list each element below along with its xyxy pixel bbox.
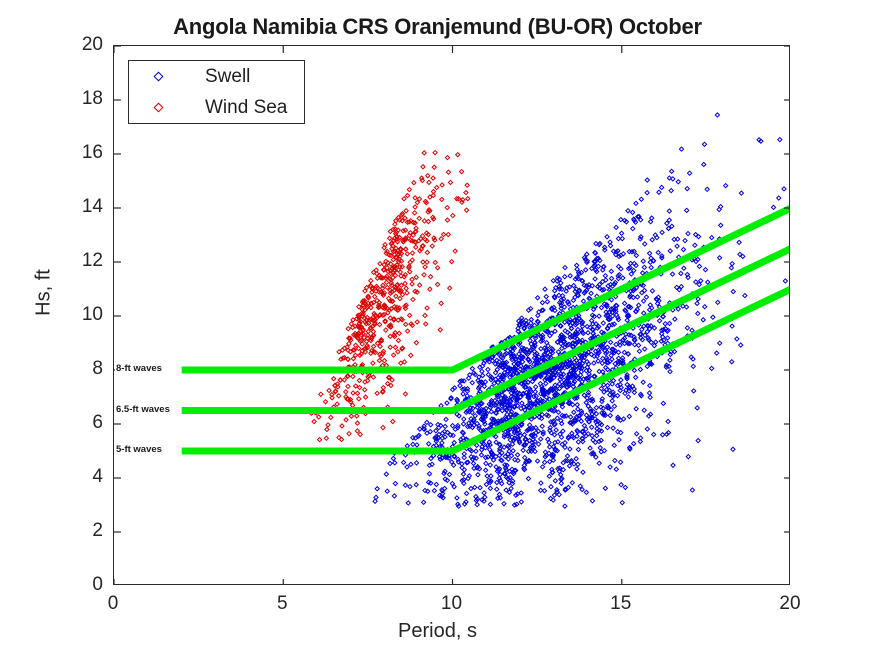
x-tick-label: 20: [760, 593, 820, 615]
y-tick-label: 6: [43, 412, 103, 434]
wind-sea-points: [309, 151, 470, 442]
x-tick-label: 0: [83, 593, 143, 615]
y-tick-label: 16: [43, 142, 103, 164]
y-tick-label: 2: [43, 520, 103, 542]
legend-label-wind-sea: Wind Sea: [205, 97, 287, 119]
y-axis-label: Hs, ft: [33, 233, 56, 353]
x-axis-label: Period, s: [0, 620, 875, 643]
axis-ticks: [114, 46, 790, 585]
figure-canvas: Angola Namibia CRS Oranjemund (BU-OR) Oc…: [0, 0, 875, 656]
scatter-plot-svg: [114, 46, 790, 585]
guide-line-label: 8-ft waves: [115, 363, 163, 374]
swell-marker-icon: [154, 72, 164, 82]
chart-title: Angola Namibia CRS Oranjemund (BU-OR) Oc…: [0, 14, 875, 40]
x-tick-label: 10: [422, 593, 482, 615]
y-tick-label: 18: [43, 88, 103, 110]
y-tick-label: 20: [43, 34, 103, 56]
guide-line-label: 6.5-ft waves: [115, 404, 171, 415]
legend-entry-swell: Swell: [129, 61, 304, 92]
y-tick-label: 4: [43, 466, 103, 488]
plot-area: [113, 45, 790, 585]
x-tick-label: 15: [591, 593, 651, 615]
y-tick-label: 14: [43, 196, 103, 218]
guide-line-label: 5-ft waves: [115, 444, 163, 455]
y-tick-label: 8: [43, 358, 103, 380]
legend-entry-wind-sea: Wind Sea: [129, 92, 304, 123]
x-tick-label: 5: [252, 593, 312, 615]
legend: Swell Wind Sea: [128, 60, 305, 124]
wind-sea-marker-icon: [154, 103, 164, 113]
legend-label-swell: Swell: [205, 66, 250, 88]
